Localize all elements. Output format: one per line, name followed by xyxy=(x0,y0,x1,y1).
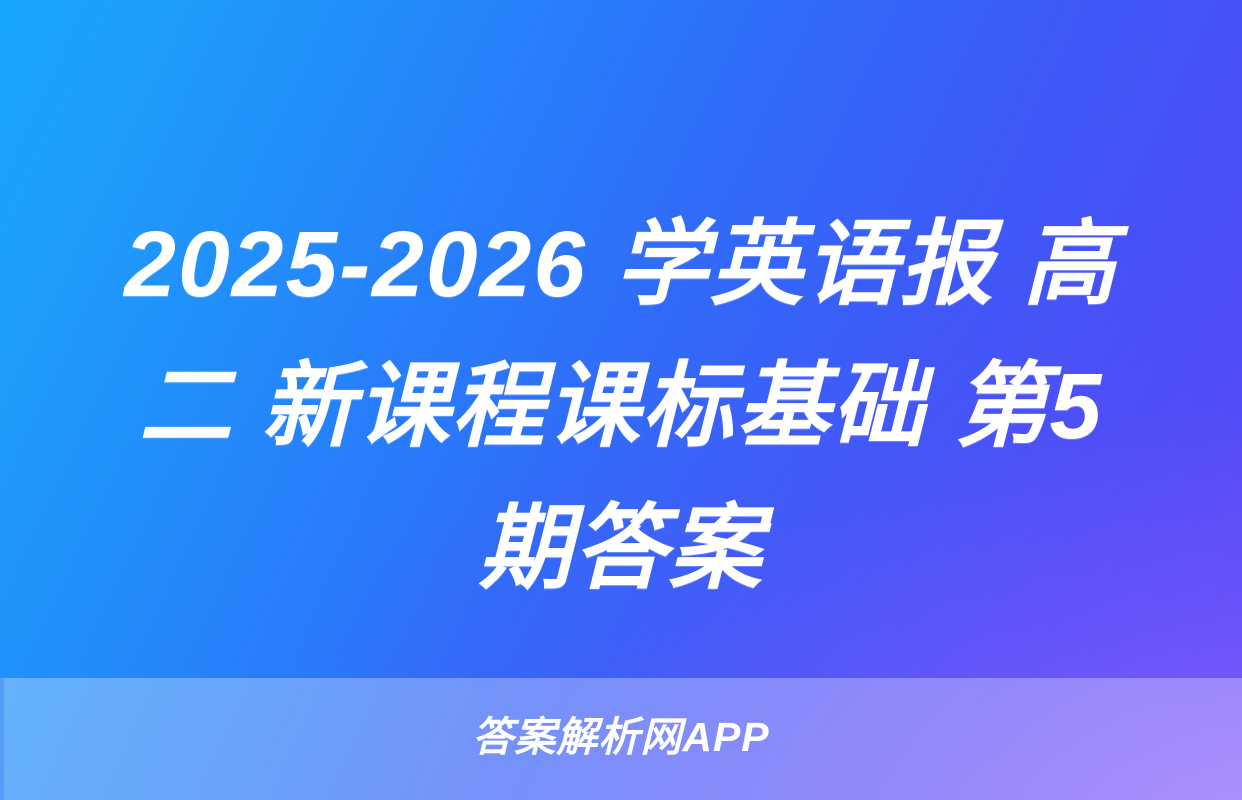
app-brand-label: 答案解析网APP xyxy=(472,712,769,762)
poster-stage: 2025-2026 学英语报 高 二 新课程课标基础 第5 期答案 答案解析网A… xyxy=(0,0,1242,800)
title-line-1: 2025-2026 学英语报 高 xyxy=(70,193,1172,335)
poster-title: 2025-2026 学英语报 高 二 新课程课标基础 第5 期答案 xyxy=(0,193,1242,619)
title-line-3: 期答案 xyxy=(70,477,1172,619)
footer-left-edge-strip xyxy=(0,678,4,800)
footer-band: 答案解析网APP xyxy=(0,678,1242,800)
title-line-2: 二 新课程课标基础 第5 xyxy=(70,335,1172,477)
poster-canvas: 2025-2026 学英语报 高 二 新课程课标基础 第5 期答案 答案解析网A… xyxy=(0,0,1242,800)
